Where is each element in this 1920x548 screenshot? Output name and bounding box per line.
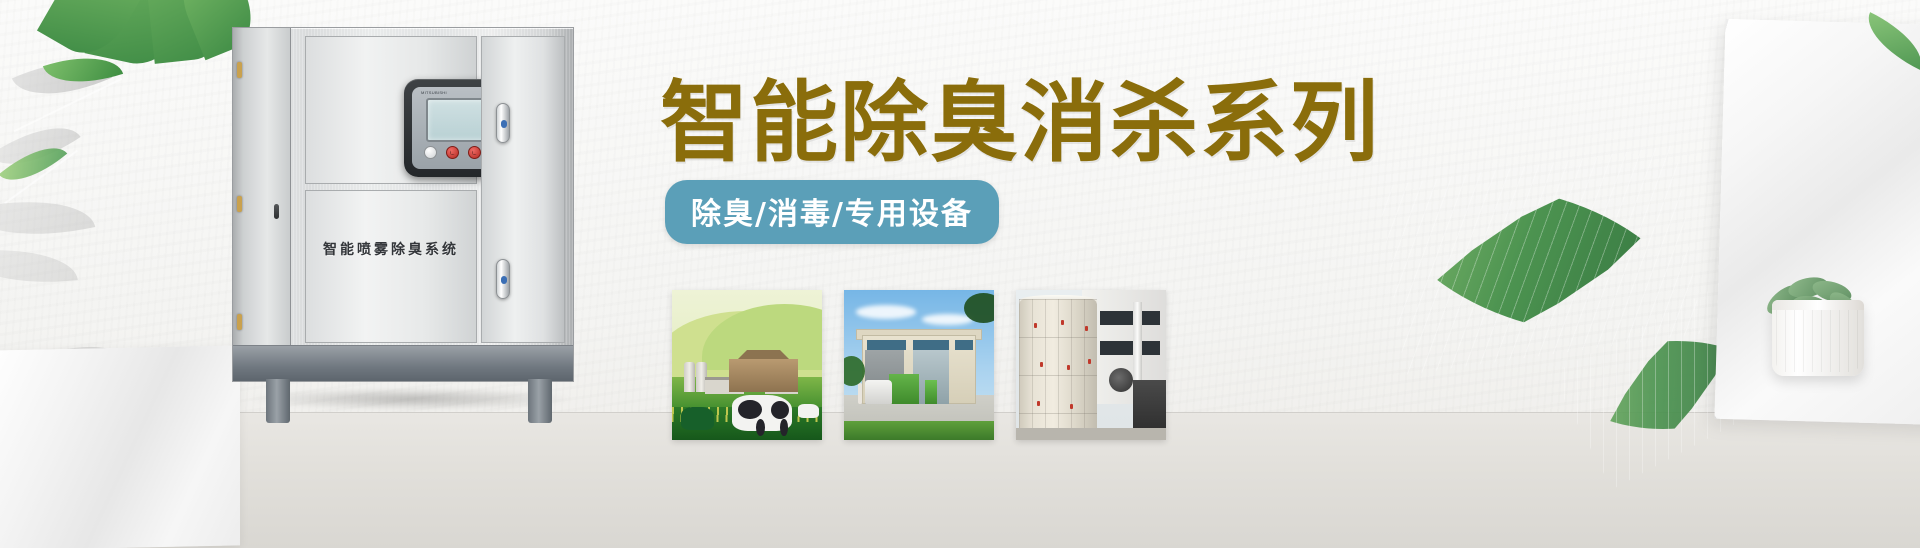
- farm-cow-far: [798, 404, 819, 418]
- plant-ground: [1016, 428, 1166, 440]
- tower-marking: [1085, 326, 1088, 331]
- tower-marking: [1088, 359, 1091, 364]
- thumbnail-transfer-station-odor[interactable]: 垃圾中转站除臭: [844, 290, 994, 440]
- farm-cow-spot: [771, 401, 789, 419]
- garbage-truck-cab: [865, 380, 892, 404]
- thumbnail-farm-odor-treatment[interactable]: 养殖场除臭处理: [672, 290, 822, 440]
- door-handle-upper[interactable]: [496, 103, 510, 143]
- cabinet-body: MITSUBISHI 智能喷雾除臭系统: [232, 27, 574, 382]
- station-window-band: [913, 340, 949, 351]
- tower-marking: [1034, 323, 1037, 328]
- banner-subtitle-badge: 除臭/消毒/专用设备: [665, 180, 999, 244]
- tower-marking: [1040, 362, 1043, 367]
- marble-slab-left: [0, 345, 240, 548]
- thumbnail-chemical-plant-odor[interactable]: 化工厂除臭: [1016, 290, 1166, 440]
- hmi-brand-label: MITSUBISHI: [421, 90, 447, 95]
- promo-banner: MITSUBISHI 智能喷雾除臭系统: [0, 0, 1920, 548]
- cabinet-right-door[interactable]: [481, 36, 565, 343]
- station-window-band: [955, 340, 973, 351]
- station-green-bin: [925, 380, 937, 404]
- tower-wrap-texture: [1019, 299, 1097, 440]
- hinge-icon: [237, 62, 242, 78]
- cabinet-leg: [266, 379, 290, 423]
- station-window-band: [867, 340, 906, 351]
- plant-pot: [1772, 300, 1864, 376]
- banner-headline: 智能除臭消杀系列: [660, 72, 1340, 172]
- tower-marking: [1037, 401, 1040, 406]
- garbage-truck-body: [889, 374, 919, 404]
- cabinet-leg: [528, 379, 552, 423]
- blower-fan-icon: [1109, 368, 1133, 392]
- power-indicator-icon[interactable]: [424, 146, 437, 159]
- farm-cow-spot: [738, 400, 762, 420]
- cabinet-base: [233, 345, 573, 381]
- plant-window: [1100, 311, 1160, 325]
- cabinet-side-panel: [233, 28, 291, 381]
- stop-button[interactable]: [468, 146, 481, 159]
- plant-window: [1100, 341, 1160, 355]
- cloud-icon: [856, 305, 916, 319]
- odor-removal-machine: MITSUBISHI 智能喷雾除臭系统: [232, 27, 574, 382]
- pot-ribs-texture: [1776, 310, 1860, 372]
- cloud-icon: [922, 314, 973, 325]
- farm-cow-silhouette: [681, 407, 714, 430]
- worker-figure: [858, 383, 863, 404]
- hinge-icon: [237, 314, 242, 330]
- tower-marking: [1067, 365, 1070, 370]
- farm-barn: [729, 359, 798, 392]
- cabinet-shadow: [246, 388, 576, 410]
- farm-cow-leg: [780, 419, 788, 436]
- cabinet-product-label: 智能喷雾除臭系统: [306, 239, 476, 259]
- door-handle-lower[interactable]: [496, 259, 510, 299]
- tower-marking: [1061, 320, 1064, 325]
- side-lock-icon: [274, 204, 279, 219]
- tower-marking: [1070, 404, 1073, 409]
- farm-cow-leg: [756, 419, 765, 436]
- handle-lock-icon: [501, 276, 507, 284]
- hinge-icon: [237, 196, 242, 212]
- station-lawn: [844, 421, 994, 441]
- application-thumbnail-row: 养殖场除臭处理 垃圾中转站除臭: [672, 290, 1166, 440]
- start-button[interactable]: [446, 146, 459, 159]
- cabinet-upper-door[interactable]: MITSUBISHI: [305, 36, 477, 184]
- cabinet-lower-door[interactable]: 智能喷雾除臭系统: [305, 190, 477, 343]
- farm-silo: [684, 362, 695, 392]
- handle-lock-icon: [501, 120, 507, 128]
